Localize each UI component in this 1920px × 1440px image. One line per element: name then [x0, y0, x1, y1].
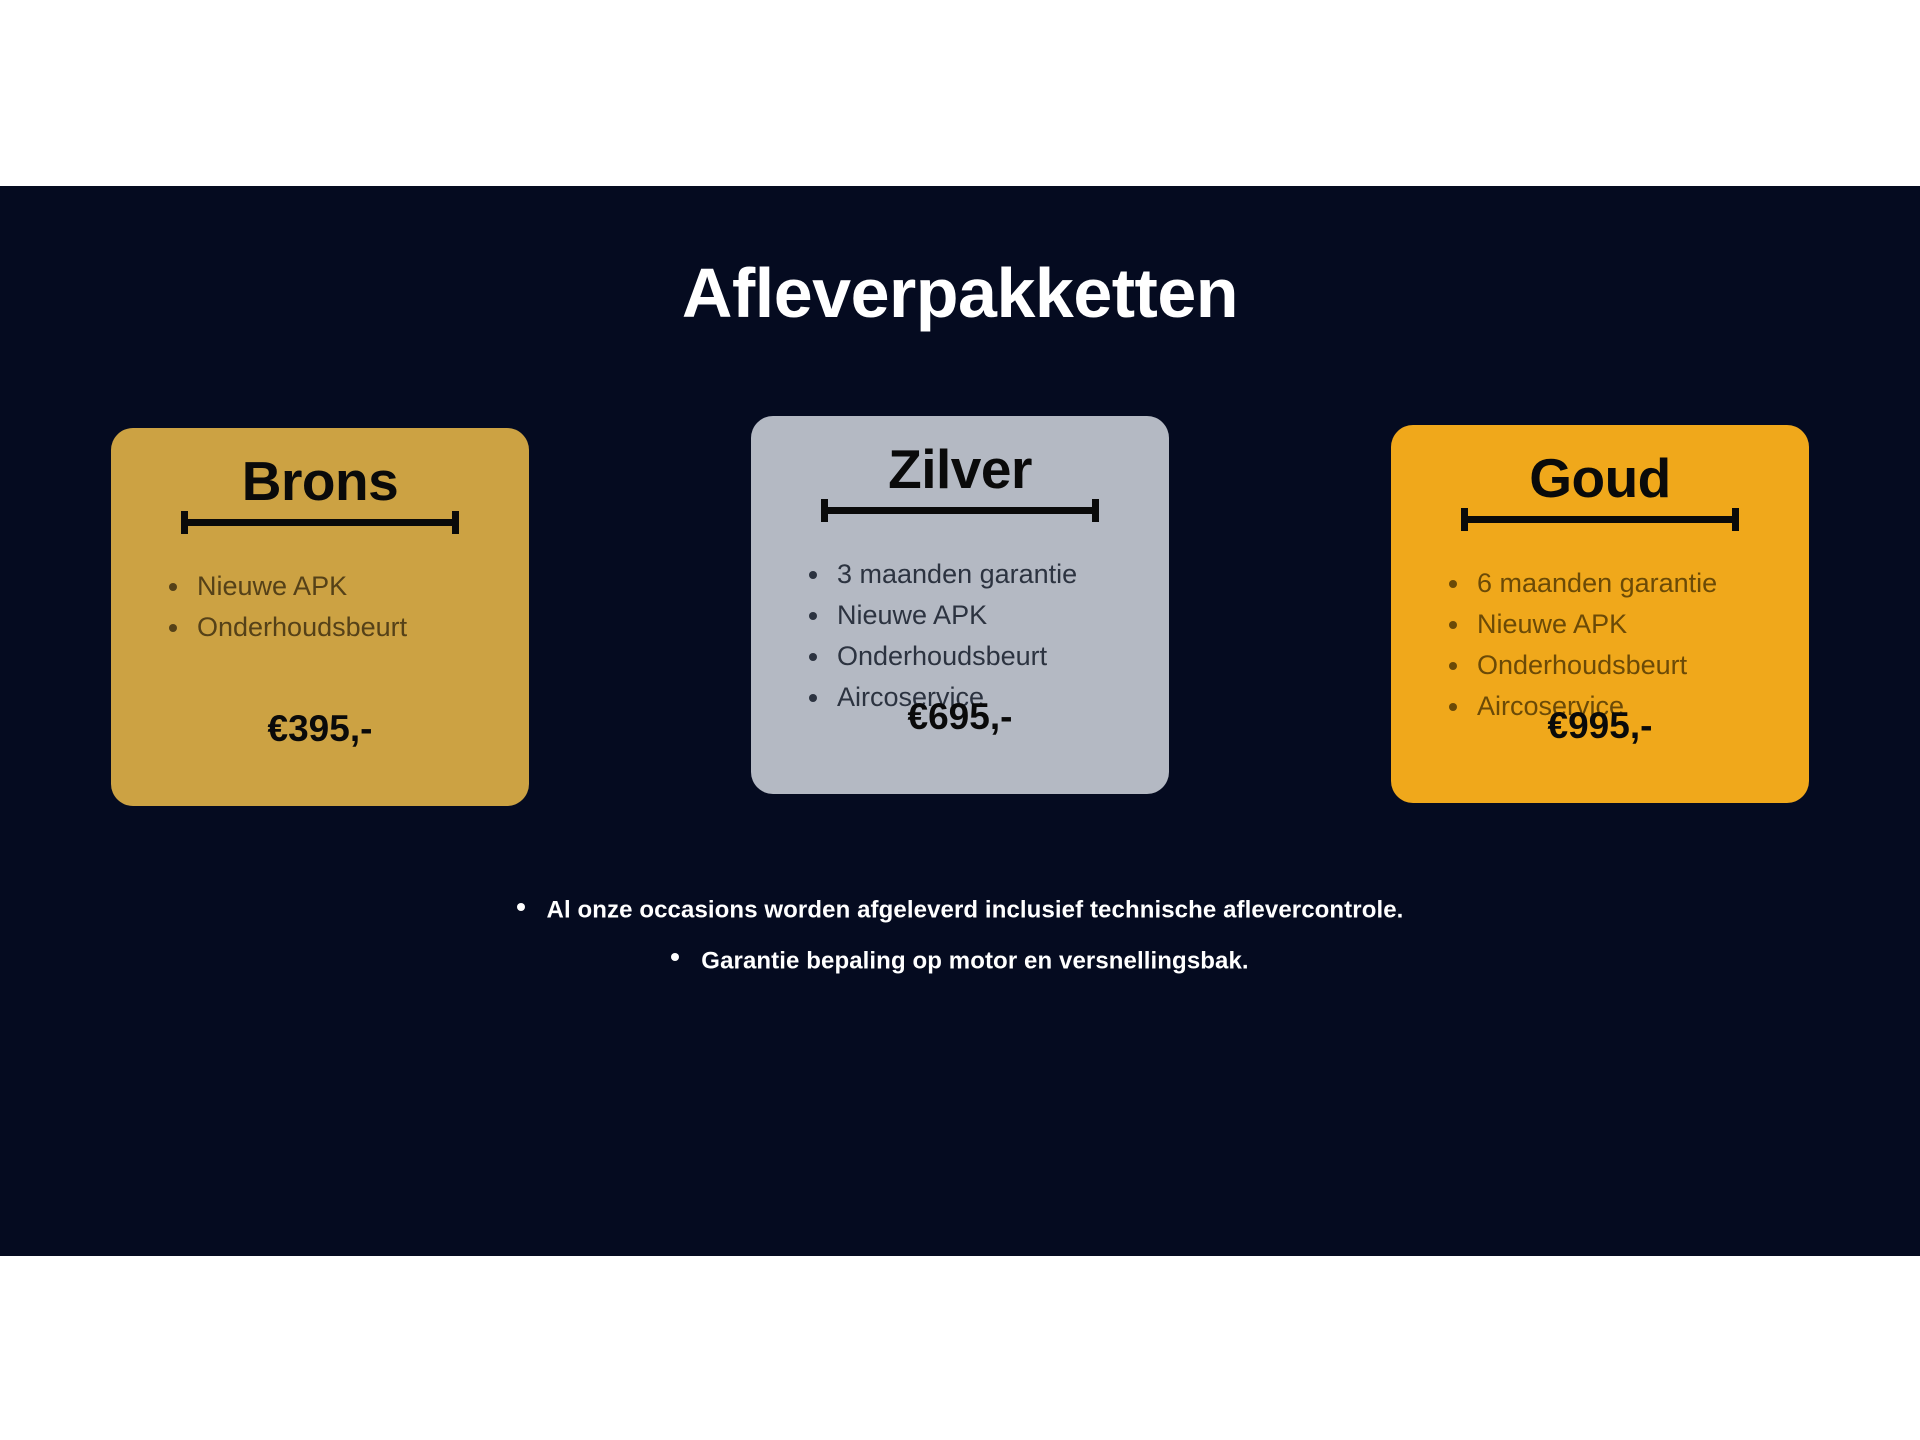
divider-icon-gold	[1461, 508, 1739, 530]
feature-list-silver: 3 maanden garantie Nieuwe APK Onderhouds…	[751, 555, 1169, 720]
package-price-silver: €695,-	[751, 696, 1169, 738]
package-title-silver: Zilver	[751, 442, 1169, 497]
bullet-icon	[517, 903, 525, 911]
divider-icon-bronze	[181, 511, 459, 533]
footer-note: Garantie bepaling op motor en versnellin…	[0, 947, 1920, 976]
feature-label: Onderhoudsbeurt	[837, 641, 1047, 671]
package-slot-bronze: Brons Nieuwe APK Onderhoudsbeurt	[0, 416, 640, 806]
feature-label: Nieuwe APK	[837, 600, 987, 630]
package-slot-silver: Zilver 3 maanden garantie Nieuwe APK	[640, 416, 1280, 794]
package-price-gold: €995,-	[1391, 705, 1809, 747]
list-item: 3 maanden garantie	[803, 555, 1169, 594]
feature-list-bronze: Nieuwe APK Onderhoudsbeurt	[111, 567, 529, 649]
list-item: Nieuwe APK	[163, 567, 529, 606]
list-item: Onderhoudsbeurt	[803, 637, 1169, 676]
package-cards-row: Brons Nieuwe APK Onderhoudsbeurt	[0, 416, 1920, 806]
package-slot-gold: Goud 6 maanden garantie Nieuwe APK	[1280, 416, 1920, 803]
package-title-bronze: Brons	[111, 454, 529, 509]
slide-canvas: Afleverpakketten Brons Nieuwe APK	[0, 0, 1920, 1440]
package-card-silver[interactable]: Zilver 3 maanden garantie Nieuwe APK	[751, 416, 1169, 794]
footer-note-text: Garantie bepaling op motor en versnellin…	[701, 947, 1248, 974]
bullet-icon	[671, 953, 679, 961]
list-item: Onderhoudsbeurt	[163, 608, 529, 647]
feature-label: 6 maanden garantie	[1477, 568, 1717, 598]
list-item: Nieuwe APK	[1443, 605, 1809, 644]
divider-icon-silver	[821, 499, 1099, 521]
divider-bar-icon	[181, 519, 459, 526]
divider-bar-icon	[1461, 516, 1739, 523]
package-price-bronze: €395,-	[111, 708, 529, 750]
package-title-gold: Goud	[1391, 451, 1809, 506]
divider-cap-right-icon	[1732, 508, 1739, 531]
footer-note: Al onze occasions worden afgeleverd incl…	[0, 896, 1920, 925]
feature-label: Onderhoudsbeurt	[197, 612, 407, 642]
divider-bar-icon	[821, 507, 1099, 514]
page-title: Afleverpakketten	[0, 257, 1920, 331]
feature-label: Nieuwe APK	[1477, 609, 1627, 639]
list-item: Nieuwe APK	[803, 596, 1169, 635]
divider-cap-right-icon	[1092, 499, 1099, 522]
slide-panel: Afleverpakketten Brons Nieuwe APK	[0, 186, 1920, 1256]
feature-label: 3 maanden garantie	[837, 559, 1077, 589]
divider-cap-right-icon	[452, 511, 459, 534]
feature-label: Onderhoudsbeurt	[1477, 650, 1687, 680]
package-card-bronze[interactable]: Brons Nieuwe APK Onderhoudsbeurt	[111, 428, 529, 806]
package-card-gold[interactable]: Goud 6 maanden garantie Nieuwe APK	[1391, 425, 1809, 803]
footer-note-text: Al onze occasions worden afgeleverd incl…	[547, 897, 1404, 924]
feature-label: Nieuwe APK	[197, 571, 347, 601]
footer-notes: Al onze occasions worden afgeleverd incl…	[0, 896, 1920, 997]
list-item: 6 maanden garantie	[1443, 564, 1809, 603]
list-item: Onderhoudsbeurt	[1443, 646, 1809, 685]
feature-list-gold: 6 maanden garantie Nieuwe APK Onderhouds…	[1391, 564, 1809, 729]
